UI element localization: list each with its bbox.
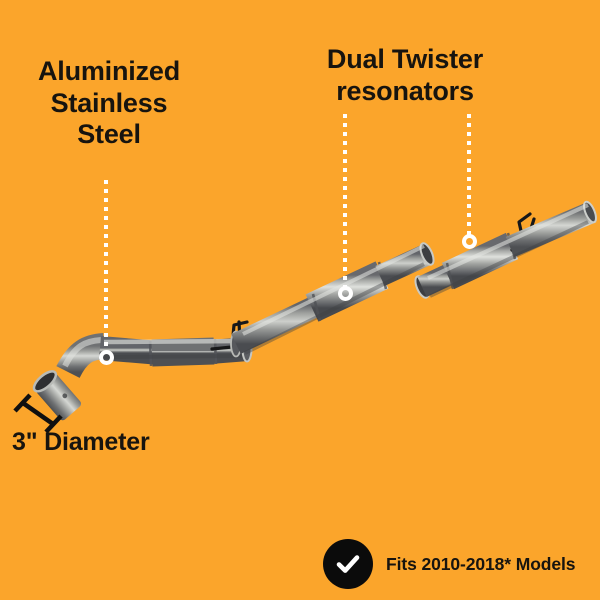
callout-label-diameter: 3" Diameter [12,428,222,457]
exhaust-section-resonator-2 [413,200,599,299]
product-infographic: Aluminized Stainless Steel Dual Twister … [0,0,600,600]
leader-marker-resonator-1 [338,286,353,301]
callout-label-resonators: Dual Twister resonators [300,44,510,107]
leader-marker-resonator-2 [462,234,477,249]
exhaust-section-resonator-1 [212,241,436,356]
leader-line-resonator-1 [343,114,347,287]
check-icon-glyph [333,549,363,579]
leader-line-material [104,180,108,351]
fitment-badge: Fits 2010-2018* Models [323,539,575,589]
leader-line-resonator-2 [467,114,471,235]
leader-marker-material [99,350,114,365]
fitment-badge-text: Fits 2010-2018* Models [386,554,575,575]
callout-label-material: Aluminized Stainless Steel [0,56,218,151]
check-icon [323,539,373,589]
